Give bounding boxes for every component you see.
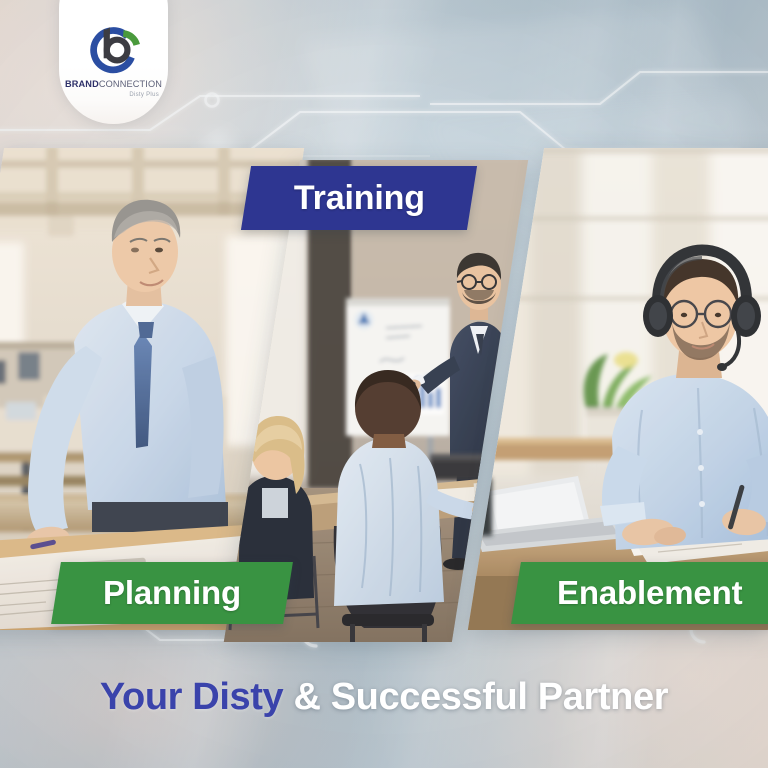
banner-enablement[interactable]: Enablement <box>511 562 768 624</box>
banner-planning-label: Planning <box>103 574 241 612</box>
logo-tagline: Disty Plus <box>129 92 159 98</box>
logo-wordmark: BRANDCONNECTION <box>65 80 162 89</box>
banner-training-label: Training <box>294 179 425 218</box>
headline-tagline: Your Disty & Successful Partner <box>0 678 768 718</box>
tagline-plain: & Successful Partner <box>293 676 668 718</box>
brand-connection-bc-monogram-icon <box>83 23 145 75</box>
logo-wordmark-brand: BRAND <box>65 79 99 89</box>
brand-logo[interactable]: BRANDCONNECTION Disty Plus <box>59 0 168 124</box>
banner-enablement-label: Enablement <box>557 574 742 612</box>
banner-planning[interactable]: Planning <box>51 562 293 624</box>
tagline-accent: Your Disty <box>100 676 283 718</box>
logo-wordmark-connection: CONNECTION <box>99 79 162 89</box>
banner-training[interactable]: Training <box>241 166 477 230</box>
promotional-poster: Training Planning Enablement BRANDCONNEC… <box>0 0 768 768</box>
